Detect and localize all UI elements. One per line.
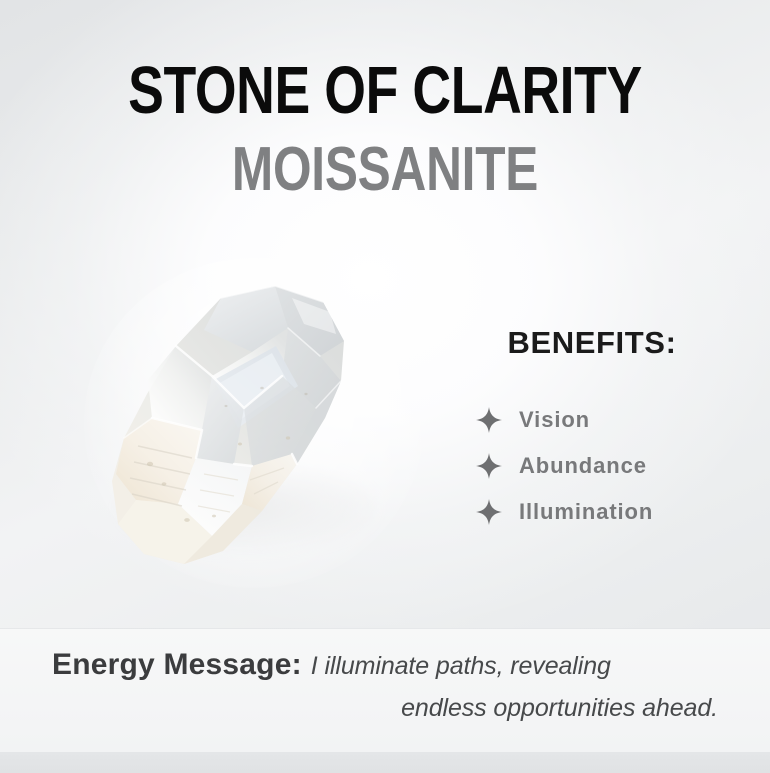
page-title: STONE OF CLARITY <box>77 57 693 124</box>
benefits-heading: BENEFITS: <box>468 325 716 361</box>
benefit-item-vision: Vision <box>476 397 730 443</box>
benefit-item-illumination: Illumination <box>476 489 730 535</box>
energy-message-text-line-2: endless opportunities ahead. <box>0 694 770 723</box>
benefit-item-abundance: Abundance <box>476 443 730 489</box>
benefit-label: Abundance <box>519 453 647 479</box>
energy-message-label: Energy Message: <box>52 648 302 682</box>
section-divider <box>0 628 770 629</box>
sparkle-icon <box>476 407 502 433</box>
stone-of-clarity-card: STONE OF CLARITY MOISSANITE <box>0 0 770 773</box>
stone-name-subtitle: MOISSANITE <box>77 139 693 201</box>
crystal-illustration <box>92 268 414 586</box>
sparkle-icon <box>476 453 502 479</box>
bottom-strip <box>0 752 770 773</box>
benefits-list: Vision Abundance <box>476 397 730 535</box>
benefits-section: BENEFITS: Vision <box>440 325 730 535</box>
benefit-label: Vision <box>519 407 590 433</box>
energy-message-line-1: Energy Message: I illuminate paths, reve… <box>0 648 770 682</box>
crystal-image <box>92 268 414 586</box>
sparkle-icon <box>476 499 502 525</box>
energy-message-text-line-1: I illuminate paths, revealing <box>311 652 611 681</box>
benefit-label: Illumination <box>519 499 653 525</box>
hero-section: STONE OF CLARITY MOISSANITE <box>0 0 770 629</box>
